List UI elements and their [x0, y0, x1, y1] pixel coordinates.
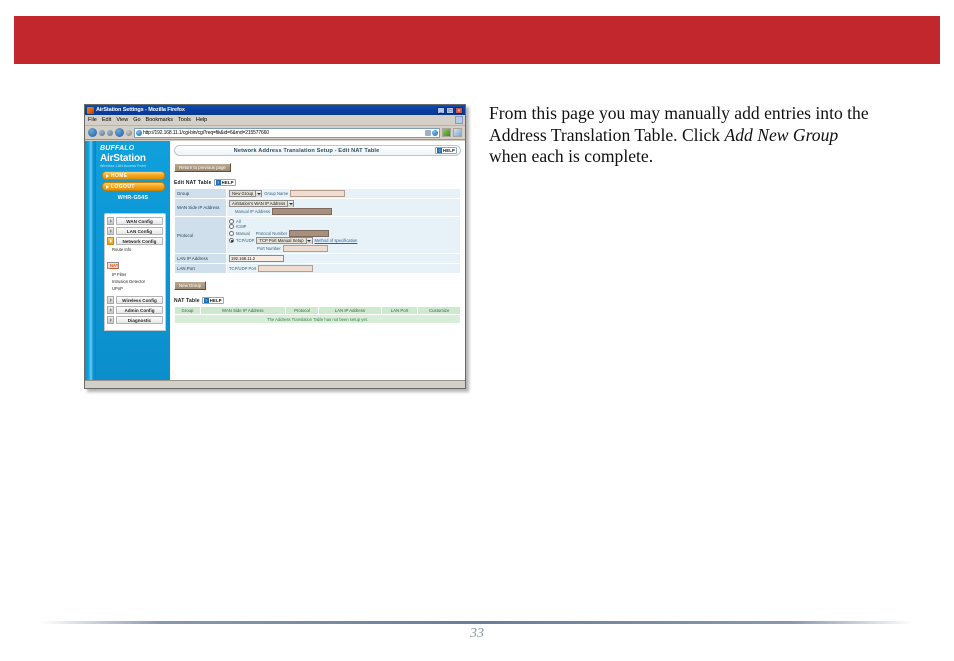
form-row-protocol: Protocol All ICMP	[175, 217, 461, 254]
chevron-down-icon	[306, 238, 312, 244]
url-text: http://192.168.11.1/cgi-bin/cgi?req=fik&…	[143, 130, 425, 136]
label-lan-port: LAN Port	[175, 264, 227, 274]
footer-divider	[40, 621, 914, 624]
field-lan-port: TCP/UDP Port	[227, 264, 461, 274]
chevron-down-icon	[255, 191, 261, 197]
back-icon[interactable]	[88, 128, 97, 137]
chevron-right-icon	[106, 174, 109, 178]
stop-icon[interactable]	[115, 128, 124, 137]
radio-all[interactable]	[229, 219, 234, 224]
sidebar-item-network-config[interactable]: Network Config	[107, 237, 163, 245]
protocol-option-tcp-udp[interactable]: TCP/UDP TCP Port Manual Setup Method of …	[229, 237, 458, 244]
home-button-label: HOME	[111, 173, 128, 179]
sidebar-label-admin-config: Admin Config	[124, 308, 154, 313]
sidebar-subitem-nat[interactable]: NAT	[107, 262, 119, 269]
nat-table-row: The Address Translation Table has not be…	[175, 315, 461, 324]
edit-nat-table-title: Edit NAT Table	[174, 180, 212, 186]
device-model: WHR-G54S	[96, 195, 170, 201]
expander-icon	[107, 296, 114, 304]
help-label: HELP	[222, 180, 234, 185]
page-number: 33	[0, 626, 954, 642]
menu-item-help[interactable]: Help	[196, 117, 207, 123]
site-globe-icon	[136, 130, 142, 136]
protocol-option-all[interactable]: All	[229, 219, 458, 224]
form-row-lan-ip: LAN IP Address 192.168.11.2	[175, 254, 461, 264]
group-select[interactable]: New Group	[229, 190, 262, 197]
instruction-text-part2: when each is complete.	[489, 146, 653, 166]
form-row-lan-port: LAN Port TCP/UDP Port	[175, 264, 461, 274]
new-group-button[interactable]: New Group	[174, 281, 206, 290]
manual-ip-address-input[interactable]	[272, 208, 332, 215]
port-number-row: Port Number	[229, 245, 458, 252]
menu-item-bookmarks[interactable]: Bookmarks	[146, 117, 174, 123]
edit-nat-table-section-header: Edit NAT Table ? HELP	[174, 179, 461, 186]
page-title: Network Address Translation Setup - Edit…	[178, 148, 435, 154]
maximize-button[interactable]: □	[446, 107, 454, 114]
question-mark-icon: ?	[437, 148, 442, 153]
nat-col-lan-port: LAN Port	[381, 307, 418, 315]
search-box-icon[interactable]	[453, 128, 462, 137]
nat-col-group: Group	[175, 307, 201, 315]
menu-item-view[interactable]: View	[116, 117, 128, 123]
menu-item-go[interactable]: Go	[133, 117, 140, 123]
protocol-option-icmp[interactable]: ICMP	[229, 224, 458, 229]
left-blue-rail	[85, 141, 96, 380]
sidebar-logout-button[interactable]: LOGOUT	[102, 182, 165, 191]
sidebar-label-wireless-config: Wireless Config	[122, 298, 157, 303]
chevron-right-icon	[106, 185, 109, 189]
label-lan-ip-address: LAN IP Address	[175, 254, 227, 264]
tcp-udp-port-input[interactable]	[258, 265, 313, 272]
toolbar-extras	[442, 128, 462, 137]
page-viewport: BUFFALO AirStation Wireless LAN Access P…	[85, 141, 465, 380]
field-group: New Group Group Name	[227, 189, 461, 199]
label-protocol-number: Protocol Number	[256, 231, 287, 236]
logout-button-label: LOGOUT	[111, 184, 135, 190]
lock-icon	[425, 130, 431, 136]
label-wan-side-ip-address: WAN Side IP Address	[175, 199, 227, 217]
new-group-button-label: New Group	[179, 283, 201, 288]
help-button-header[interactable]: ? HELP	[435, 147, 457, 154]
field-protocol: All ICMP Manual Protocol Number	[227, 217, 461, 254]
label-protocol: Protocol	[175, 217, 227, 254]
nat-col-customize: Customize	[418, 307, 461, 315]
help-label: HELP	[443, 148, 455, 153]
forward-icon[interactable]	[99, 130, 105, 136]
firefox-icon	[87, 107, 94, 114]
return-to-previous-page-button[interactable]: Return to previous page	[174, 163, 231, 172]
help-button-edit-nat[interactable]: ? HELP	[214, 179, 236, 186]
browser-window-screenshot: AirStation Settings - Mozilla Firefox _ …	[84, 104, 466, 389]
instruction-paragraph: From this page you may manually add entr…	[489, 103, 879, 168]
menu-item-tools[interactable]: Tools	[178, 117, 191, 123]
header-red-band	[14, 16, 940, 64]
sidebar-item-lan-config[interactable]: LAN Config	[107, 227, 163, 235]
url-bar[interactable]: http://192.168.11.1/cgi-bin/cgi?req=fik&…	[134, 128, 440, 138]
page-title-bar: Network Address Translation Setup - Edit…	[174, 145, 461, 156]
nat-table-header-row: Group WAN Side IP Address Protocol LAN I…	[175, 307, 461, 315]
help-label: HELP	[210, 298, 222, 303]
label-group: Group	[175, 189, 227, 199]
label-group-name: Group Name	[264, 191, 288, 196]
chevron-down-icon	[287, 201, 293, 207]
menu-item-file[interactable]: File	[88, 117, 97, 123]
browser-title-bar: AirStation Settings - Mozilla Firefox _ …	[85, 105, 465, 115]
label-manual-ip-address: Manual IP Address	[235, 209, 270, 214]
label-tcp-udp-port: TCP/UDP Port	[229, 266, 256, 271]
sidebar-item-wireless-config[interactable]: Wireless Config	[107, 296, 163, 304]
reload-icon[interactable]	[107, 130, 113, 136]
brand-airstation: AirStation	[100, 153, 167, 164]
label-port-number: Port Number	[257, 246, 281, 251]
sidebar-subitem-ip-filter[interactable]: IP Filter	[107, 272, 163, 279]
nat-col-lan-ip: LAN IP Address	[319, 307, 381, 315]
form-row-group: Group New Group Group Name	[175, 189, 461, 199]
field-wan-side-ip-address: AirStation's WAN IP Address Manual IP Ad…	[227, 199, 461, 217]
expander-icon	[107, 306, 114, 314]
nat-col-protocol: Protocol	[285, 307, 318, 315]
menubar-right-icons	[455, 116, 463, 124]
go-icon[interactable]	[432, 130, 438, 136]
expander-icon-active	[107, 237, 114, 245]
group-select-value: New Group	[232, 191, 253, 196]
wan-ip-select[interactable]: AirStation's WAN IP Address	[229, 200, 294, 207]
extension-icon[interactable]	[442, 128, 451, 137]
return-button-label: Return to previous page	[179, 165, 226, 170]
label-all: All	[236, 219, 241, 224]
menu-item-edit[interactable]: Edit	[102, 117, 111, 123]
sidebar-subitem-upnp[interactable]: UPnP	[107, 286, 163, 293]
label-icmp: ICMP	[236, 224, 246, 229]
sidebar-label-network-config: Network Config	[123, 239, 157, 244]
main-content: Network Address Translation Setup - Edit…	[170, 141, 465, 380]
browser-menu-bar: File Edit View Go Bookmarks Tools Help	[85, 115, 465, 126]
edit-nat-form-table: Group New Group Group Name	[174, 188, 461, 274]
sidebar-subitem-intrusion-detector[interactable]: Intrusion Detector	[107, 279, 163, 286]
browser-status-bar	[85, 380, 465, 388]
expander-icon	[107, 316, 114, 324]
nat-table-section-header: NAT Table ? HELP	[174, 297, 461, 304]
sidebar-menu-card: WAN Config LAN Config Network Config Rou…	[104, 213, 166, 331]
radio-icmp[interactable]	[229, 224, 234, 229]
nat-col-wan-side-ip: WAN Side IP Address	[200, 307, 285, 315]
device-sidebar: BUFFALO AirStation Wireless LAN Access P…	[96, 141, 170, 380]
wan-ip-select-value: AirStation's WAN IP Address	[232, 201, 285, 206]
expander-icon	[107, 227, 114, 235]
label-manual: Manual	[236, 231, 250, 236]
browser-toolbar: http://192.168.11.1/cgi-bin/cgi?req=fik&…	[85, 126, 465, 140]
question-mark-icon: ?	[216, 180, 221, 185]
close-button[interactable]: ×	[455, 107, 463, 114]
tcp-port-select-value: TCP Port Manual Setup	[259, 238, 303, 243]
nat-table-empty-message: The Address Translation Table has not be…	[175, 315, 461, 324]
urlbar-icons	[425, 130, 438, 136]
protocol-number-input[interactable]	[289, 230, 329, 237]
home-icon[interactable]	[126, 130, 132, 136]
lan-ip-address-input[interactable]: 192.168.11.2	[229, 255, 284, 262]
window-controls: _ □ ×	[437, 107, 463, 114]
sidebar-home-button[interactable]: HOME	[102, 171, 165, 180]
brand-buffalo: BUFFALO	[100, 145, 167, 153]
form-row-wan-side-ip: WAN Side IP Address AirStation's WAN IP …	[175, 199, 461, 217]
throbber-icon	[455, 116, 463, 124]
port-number-input[interactable]	[283, 245, 328, 252]
brand-block: BUFFALO AirStation Wireless LAN Access P…	[96, 143, 170, 169]
radio-manual[interactable]	[229, 231, 234, 236]
tcp-port-select[interactable]: TCP Port Manual Setup	[256, 237, 312, 244]
expander-icon	[107, 217, 114, 225]
label-tcp-udp: TCP/UDP	[236, 238, 254, 243]
sidebar-item-wan-config[interactable]: WAN Config	[107, 217, 163, 225]
nat-table-title: NAT Table	[174, 298, 200, 304]
field-lan-ip-address: 192.168.11.2	[227, 254, 461, 264]
sidebar-item-diagnostic[interactable]: Diagnostic	[107, 316, 163, 324]
help-button-nat-table[interactable]: ? HELP	[202, 297, 224, 304]
radio-tcp-udp[interactable]	[229, 238, 234, 243]
question-mark-icon: ?	[204, 298, 209, 303]
instruction-emphasis: Add New Group	[724, 125, 838, 145]
sidebar-subitem-route-info[interactable]: Route Info	[107, 247, 163, 254]
browser-title: AirStation Settings - Mozilla Firefox	[96, 107, 437, 113]
nat-table: Group WAN Side IP Address Protocol LAN I…	[174, 306, 461, 324]
sidebar-item-admin-config[interactable]: Admin Config	[107, 306, 163, 314]
method-of-specification-link[interactable]: Method of specification	[315, 238, 358, 243]
group-name-input[interactable]	[290, 190, 345, 197]
brand-subtitle: Wireless LAN Access Point	[100, 164, 167, 169]
minimize-button[interactable]: _	[437, 107, 445, 114]
manual-page: AirStation Settings - Mozilla Firefox _ …	[0, 0, 954, 661]
sidebar-label-lan-config: LAN Config	[127, 229, 152, 234]
sidebar-label-diagnostic: Diagnostic	[128, 318, 151, 323]
sidebar-label-wan-config: WAN Config	[126, 219, 153, 224]
protocol-option-manual[interactable]: Manual Protocol Number	[229, 230, 458, 237]
